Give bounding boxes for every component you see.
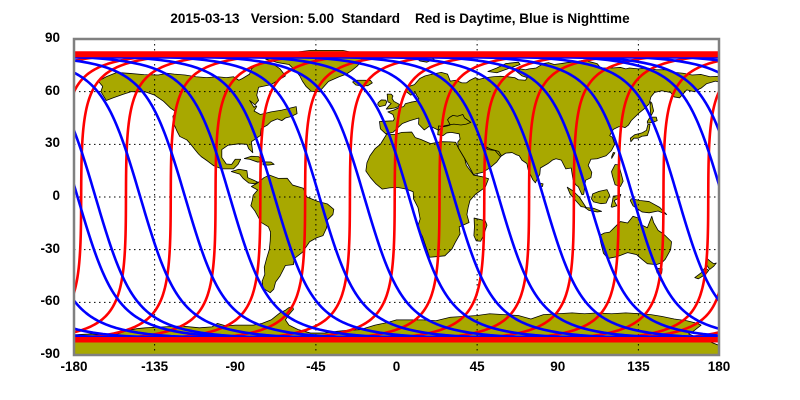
landmass-nz-n-wrapL [61, 257, 71, 269]
landmass-sakhalin-wrapL [5, 102, 9, 117]
ground-track-nighttime-5 [781, 57, 800, 338]
landmass-eurasia-wrapL [0, 60, 74, 195]
x-tick-label--135: -135 [125, 359, 185, 374]
map-plot-area [0, 0, 800, 400]
x-tick-label-90: 90 [528, 359, 588, 374]
y-tick-label--30: -30 [20, 241, 60, 256]
landmass-newguinea-wrapL [0, 199, 22, 215]
landmass-naeast-wrapR [743, 63, 800, 169]
x-tick-label--90: -90 [205, 359, 265, 374]
figure-title: 2015-03-13 Version: 5.00 Standard Red is… [0, 11, 800, 26]
x-tick-label--45: -45 [286, 359, 346, 374]
y-tick-label-60: 60 [20, 83, 60, 98]
landmass-hokkaido-wrapL [2, 117, 12, 123]
x-tick-label--180: -180 [44, 359, 104, 374]
landmass-tasmania-wrapL [11, 268, 17, 273]
y-tick-label-30: 30 [20, 135, 60, 150]
x-tick-label-45: 45 [447, 359, 507, 374]
ground-track-nighttime-4 [736, 57, 800, 338]
landmass-antarctica-wrapR [719, 307, 800, 355]
ground-track-map-figure: 2015-03-13 Version: 5.00 Standard Red is… [0, 0, 800, 400]
y-tick-label-90: 90 [20, 30, 60, 45]
ground-track-daytime-4 [766, 54, 800, 339]
x-tick-label-135: 135 [608, 359, 668, 374]
landmass-japan-wrapL [0, 124, 5, 142]
x-tick-label-180: 180 [689, 359, 749, 374]
landmass-nz-s-wrapL [50, 268, 64, 279]
y-tick-label--60: -60 [20, 293, 60, 308]
x-tick-label-0: 0 [367, 359, 427, 374]
y-tick-label-0: 0 [20, 188, 60, 203]
ground-track-daytime-3 [722, 54, 800, 339]
